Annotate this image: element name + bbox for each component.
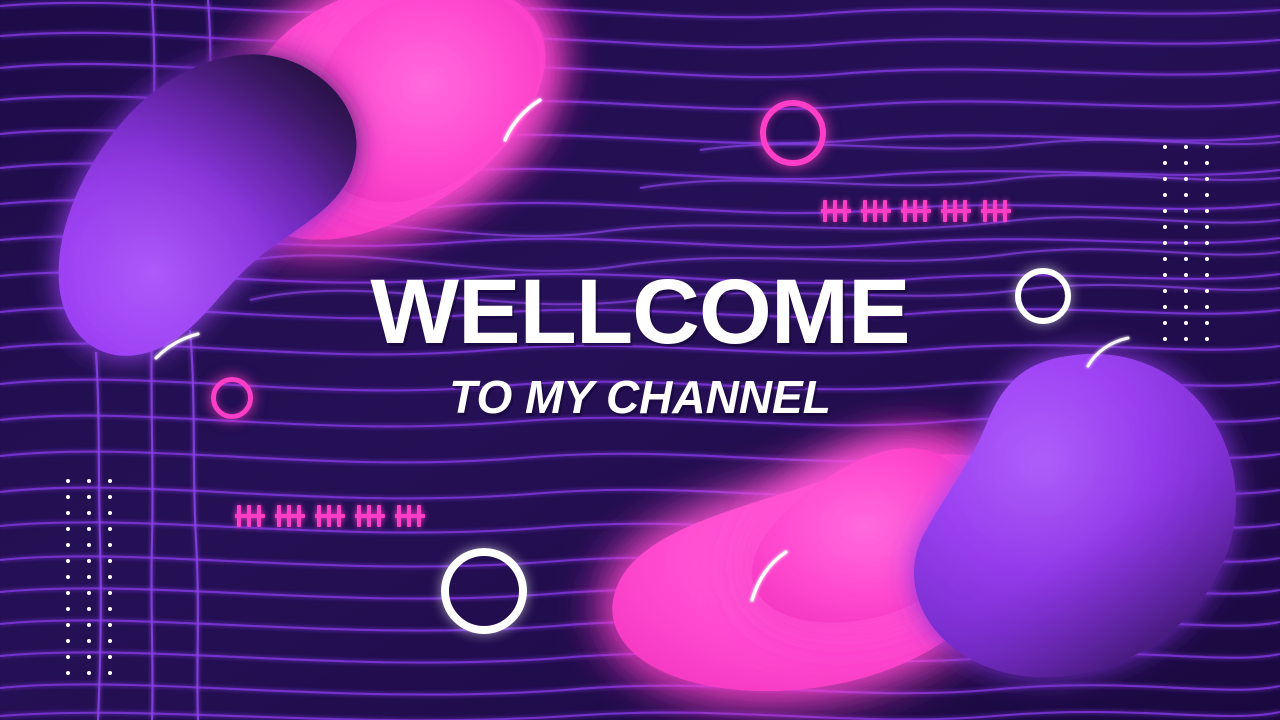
title-block: WELLCOME TO MY CHANNEL xyxy=(0,268,1280,420)
page-title: WELLCOME xyxy=(0,268,1280,356)
text-layer: WELLCOME TO MY CHANNEL xyxy=(0,0,1280,720)
page-subtitle: TO MY CHANNEL xyxy=(0,374,1280,420)
banner-canvas: WELLCOME TO MY CHANNEL xyxy=(0,0,1280,720)
